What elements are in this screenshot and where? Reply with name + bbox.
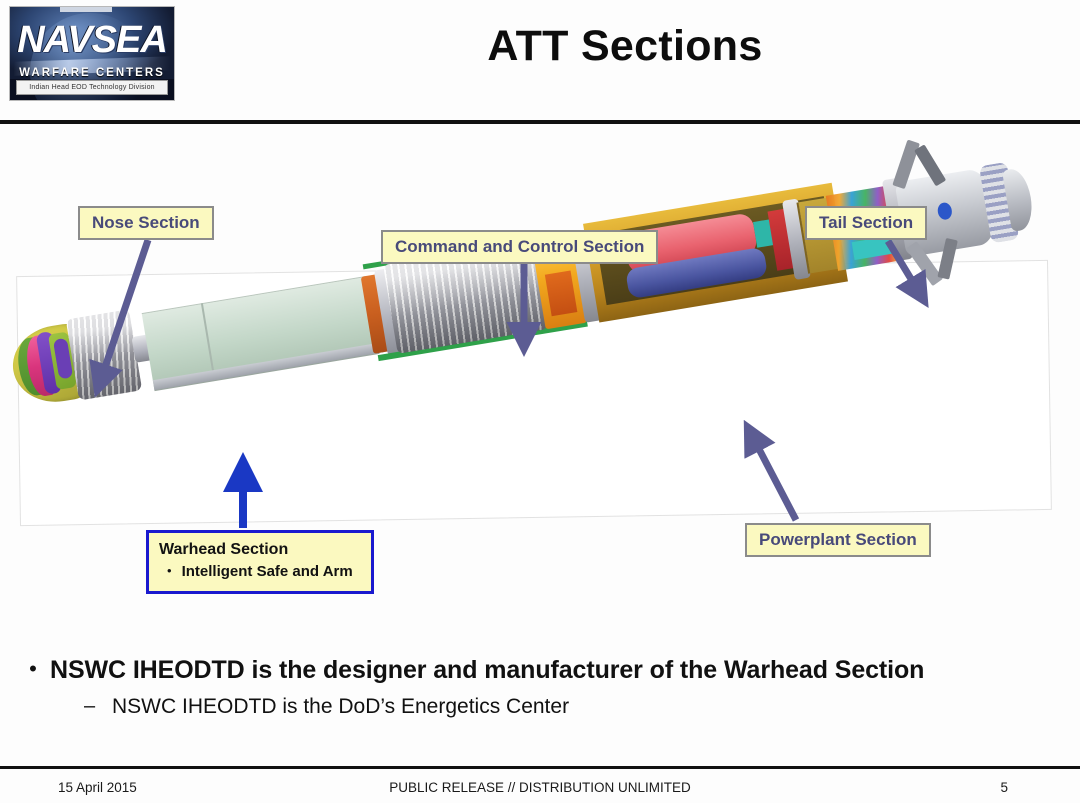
callout-powerplant-section[interactable]: Powerplant Section xyxy=(745,523,931,557)
warhead-bullet-text: Intelligent Safe and Arm xyxy=(182,562,353,582)
callout-warhead-section[interactable]: Warhead Section • Intelligent Safe and A… xyxy=(146,530,374,594)
bullet-2-text: NSWC IHEODTD is the DoD’s Energetics Cen… xyxy=(112,694,569,719)
leader-tail xyxy=(888,241,925,302)
footer-divider xyxy=(0,766,1080,769)
callout-nose-section[interactable]: Nose Section xyxy=(78,206,214,240)
warhead-bullet-marker: • xyxy=(167,562,172,582)
footer-classification: PUBLIC RELEASE // DISTRIBUTION UNLIMITED xyxy=(0,780,1080,795)
leader-power xyxy=(747,426,796,520)
slide: NAVSEA WARFARE CENTERS Indian Head EOD T… xyxy=(0,0,1080,803)
bullet-level-1: • NSWC IHEODTD is the designer and manuf… xyxy=(16,655,1050,686)
bullet-level-2: – NSWC IHEODTD is the DoD’s Energetics C… xyxy=(16,694,1050,719)
footer-page-number: 5 xyxy=(1000,780,1008,795)
bullet-1-marker: • xyxy=(16,655,50,683)
slide-footer: 15 April 2015 PUBLIC RELEASE // DISTRIBU… xyxy=(0,772,1080,803)
callout-command-and-control-section[interactable]: Command and Control Section xyxy=(381,230,658,264)
bullet-2-marker: – xyxy=(84,694,112,718)
callout-tail-section[interactable]: Tail Section xyxy=(805,206,927,240)
warhead-callout-bullet-row: • Intelligent Safe and Arm xyxy=(159,562,361,582)
leader-nose xyxy=(97,240,148,391)
bullet-1-text: NSWC IHEODTD is the designer and manufac… xyxy=(50,655,924,686)
body-bullet-list: • NSWC IHEODTD is the designer and manuf… xyxy=(16,655,1050,719)
warhead-callout-title: Warhead Section xyxy=(159,540,361,559)
